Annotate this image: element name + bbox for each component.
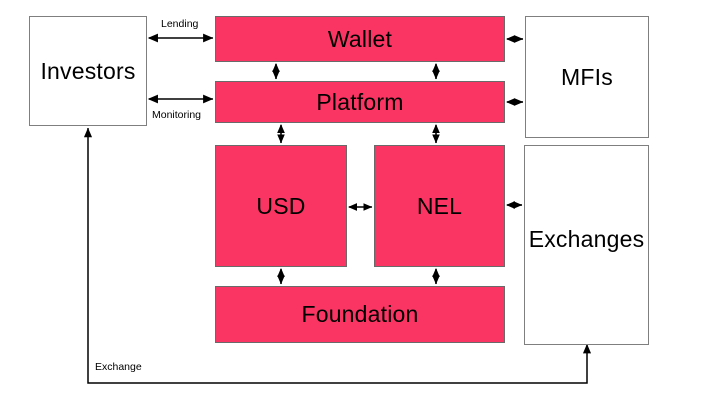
node-exchanges-label: Exchanges — [529, 228, 645, 251]
node-wallet[interactable]: Wallet — [215, 16, 505, 62]
node-foundation[interactable]: Foundation — [215, 286, 505, 343]
node-usd-label: USD — [256, 195, 305, 218]
node-nel[interactable]: NEL — [374, 145, 505, 267]
node-exchanges[interactable]: Exchanges — [524, 145, 649, 345]
node-investors-label: Investors — [40, 60, 135, 83]
node-platform-label: Platform — [316, 91, 403, 114]
diagram-canvas: Investors Wallet MFIs Platform USD NEL E… — [0, 0, 705, 401]
node-mfis[interactable]: MFIs — [525, 16, 649, 138]
edge-label-lending: Lending — [161, 19, 198, 30]
node-wallet-label: Wallet — [328, 28, 392, 51]
edge-label-exchange: Exchange — [95, 362, 142, 373]
node-nel-label: NEL — [417, 195, 462, 218]
node-mfis-label: MFIs — [561, 66, 613, 89]
node-platform[interactable]: Platform — [215, 81, 505, 123]
node-foundation-label: Foundation — [301, 303, 418, 326]
edge-label-monitoring: Monitoring — [152, 110, 201, 121]
node-investors[interactable]: Investors — [29, 16, 147, 126]
node-usd[interactable]: USD — [215, 145, 347, 267]
